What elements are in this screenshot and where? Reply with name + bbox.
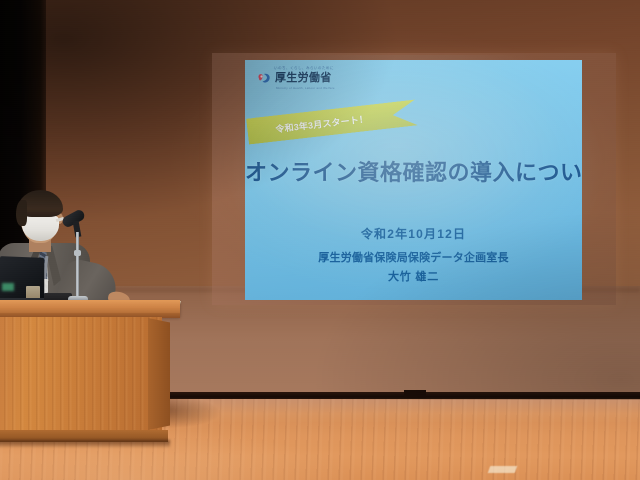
microphone-stand (76, 232, 79, 304)
podium-base-shadow (0, 440, 170, 447)
projected-slide: いのち、くらし、みらいのために 厚生労働省 Ministry of Health… (245, 60, 582, 300)
presenter-name: 大竹 雄二 (245, 268, 582, 284)
podium-side-panel (148, 318, 170, 430)
slide-title: オンライン資格確認の導入について (245, 155, 582, 187)
ministry-logo-row: 厚生労働省 (257, 72, 377, 85)
ministry-logo-tagline: いのち、くらし、みらいのために (274, 66, 377, 71)
podium-wood-grain (0, 317, 162, 435)
microphone-adjust-knob (74, 250, 81, 256)
floor-marker (488, 466, 518, 473)
baseboard-notch (404, 390, 426, 398)
presentation-date: 令和2年10月12日 (245, 225, 582, 242)
presentation-photo: いのち、くらし、みらいのために 厚生労働省 Ministry of Health… (0, 0, 640, 480)
start-date-ribbon: 令和3年3月スタート！ (246, 99, 418, 144)
speaker-hair-side (16, 200, 27, 226)
mhlw-emblem-icon (257, 72, 272, 85)
ministry-name-english: Ministry of Health, Labour and Welfare (276, 86, 377, 90)
ministry-logo: いのち、くらし、みらいのために 厚生労働省 Ministry of Health… (257, 66, 377, 90)
presenter-organization: 厚生労働省保険局保険データ企画室長 (245, 249, 582, 265)
ministry-name: 厚生労働省 (275, 73, 332, 84)
ribbon-label: 令和3年3月スタート！ (275, 111, 369, 134)
slide-meta-block: 令和2年10月12日 厚生労働省保険局保険データ企画室長 大竹 雄二 (245, 225, 582, 284)
laptop-screen-glow (2, 283, 14, 291)
